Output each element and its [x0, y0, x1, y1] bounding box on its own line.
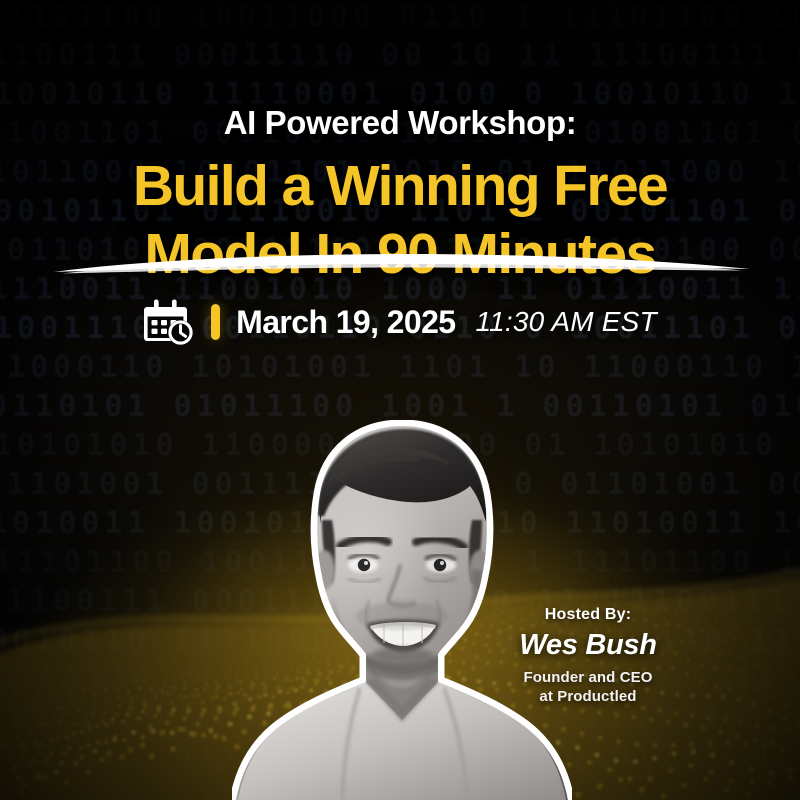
brush-underline-icon	[52, 252, 752, 286]
host-role-line-2: at Productled	[488, 687, 688, 706]
host-name: Wes Bush	[488, 629, 688, 662]
eyebrow-text: AI Powered Workshop:	[0, 104, 800, 142]
headline-line-1: Build a Winning Free	[0, 152, 800, 220]
event-date: March 19, 2025	[236, 304, 455, 341]
vertical-bar-divider	[211, 304, 220, 340]
hosted-by-label: Hosted By:	[488, 606, 688, 624]
calendar-clock-icon	[143, 298, 195, 346]
promo-content: AI Powered Workshop: Build a Winning Fre…	[0, 0, 800, 800]
promo-canvas: 11101100 10011000 0110 1 11101100 100110…	[0, 0, 800, 800]
host-role-line-1: Founder and CEO	[488, 668, 688, 687]
event-datetime-row: March 19, 2025 11:30 AM EST	[0, 298, 800, 346]
host-info: Hosted By: Wes Bush Founder and CEO at P…	[488, 606, 688, 706]
host-role: Founder and CEO at Productled	[488, 668, 688, 706]
event-time: 11:30 AM EST	[475, 306, 656, 338]
